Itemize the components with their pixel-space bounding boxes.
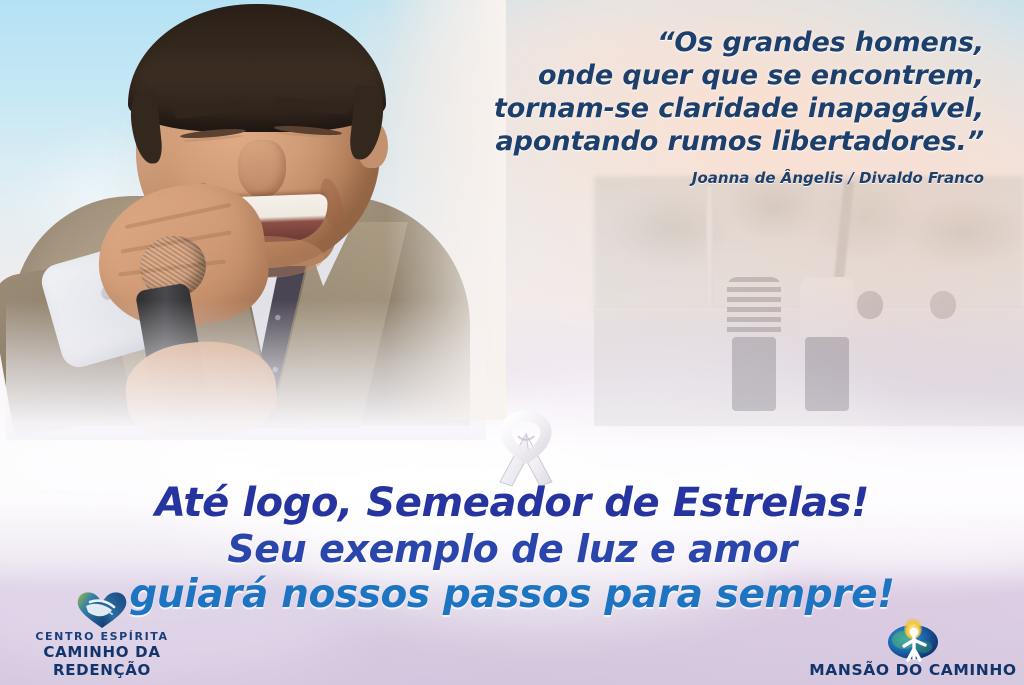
- logo-left-line-1: CENTRO ESPÍRITA: [4, 630, 200, 643]
- quote-line-4: apontando rumos libertadores.”: [384, 125, 984, 158]
- quote-line-1: “Os grandes homens,: [384, 26, 984, 59]
- hands-heart-icon: [4, 588, 200, 630]
- logo-right-line-1: MANSÃO DO CAMINHO: [808, 661, 1018, 679]
- quote-line-2: onde quer que se encontrem,: [384, 59, 984, 92]
- logo-mansao-do-caminho[interactable]: MANSÃO DO CAMINHO: [808, 619, 1018, 679]
- background-figure-striped: [727, 275, 781, 411]
- quote-line-3: tornam-se claridade inapagável,: [384, 92, 984, 125]
- background-figure-white: [800, 275, 854, 411]
- logo-centro-espirita[interactable]: CENTRO ESPÍRITA CAMINHO DA REDENÇÃO: [4, 588, 200, 679]
- globe-figure-icon: [808, 619, 1018, 661]
- quote-attribution: Joanna de Ângelis / Divaldo Franco: [384, 169, 984, 187]
- quote-block: “Os grandes homens, onde quer que se enc…: [384, 26, 984, 187]
- logo-left-line-2: CAMINHO DA REDENÇÃO: [4, 643, 200, 679]
- memorial-poster: “Os grandes homens, onde quer que se enc…: [0, 0, 1024, 685]
- background-walkway-scene: [594, 176, 1024, 426]
- headline-line-2: Seu exemplo de luz e amor: [0, 530, 1024, 568]
- headline-line-1: Até logo, Semeador de Estrelas!: [0, 483, 1024, 523]
